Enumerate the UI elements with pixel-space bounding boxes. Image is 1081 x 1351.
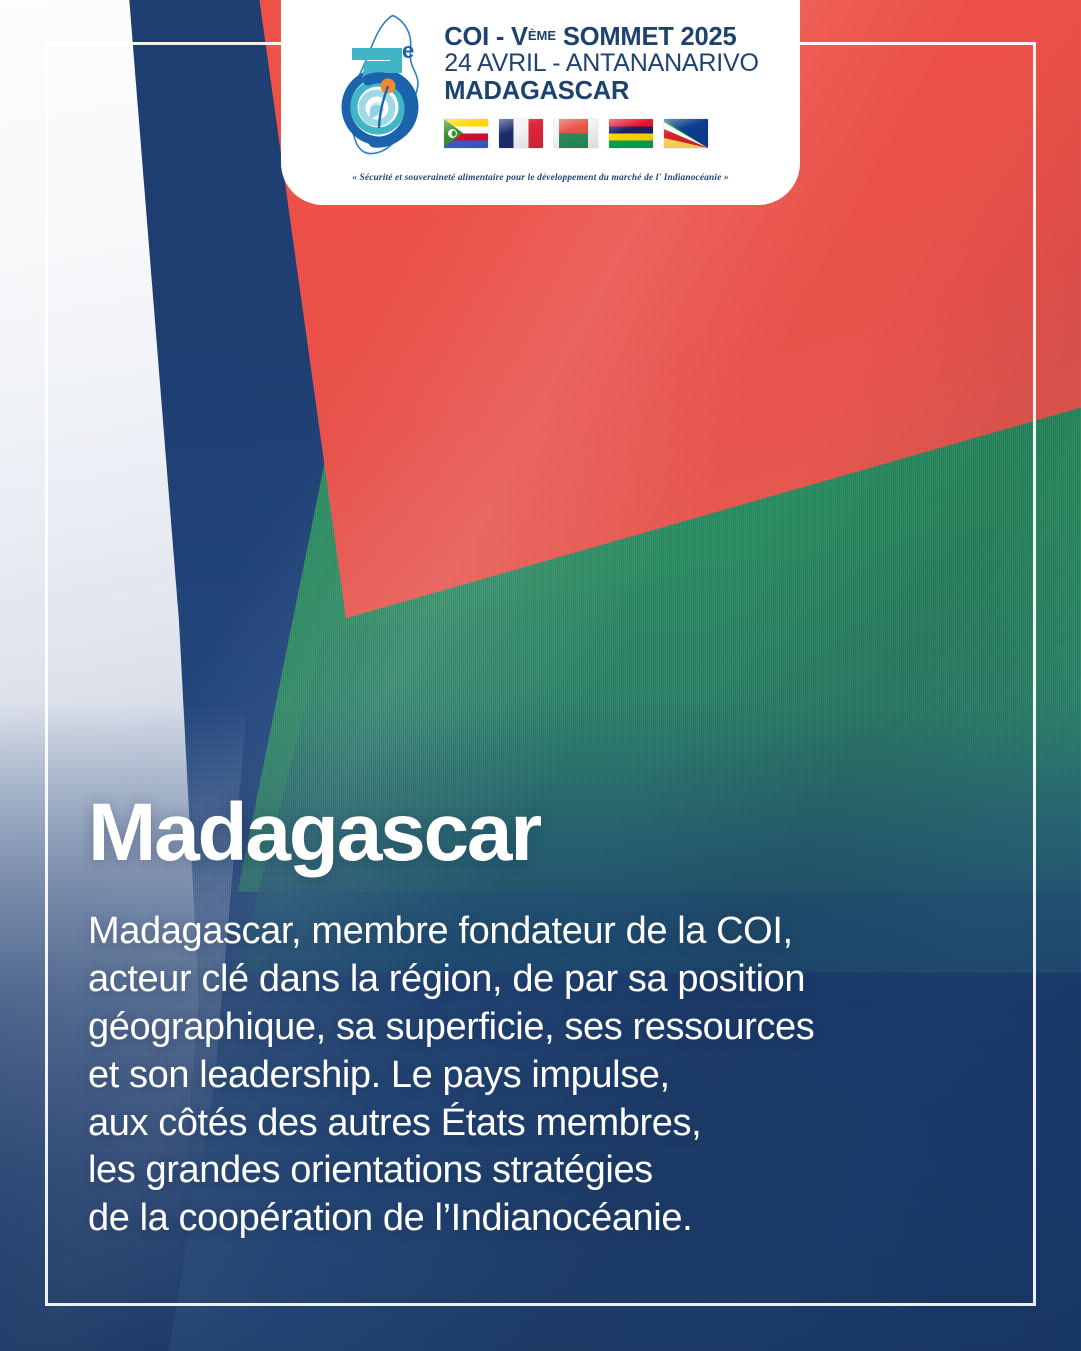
coi-summit-logo: e — [322, 10, 440, 160]
summit-title-ordinal: ÈME — [528, 28, 556, 43]
summit-title-line-1-tail: SOMMET 2025 — [556, 23, 736, 51]
flag-sheen — [499, 119, 543, 148]
summit-title-line-3: MADAGASCAR — [444, 78, 758, 104]
country-title: Madagascar — [88, 792, 540, 874]
description-line: Madagascar, membre fondateur de la COI, — [88, 908, 1021, 956]
flag-seychelles-icon — [664, 119, 708, 148]
flag-sheen — [554, 119, 598, 148]
flag-sheen — [444, 119, 488, 148]
logo-ordinal-e: e — [402, 38, 414, 63]
flag-comoros-icon — [444, 119, 488, 148]
flag-france-icon — [499, 119, 543, 148]
flag-sheen — [664, 119, 708, 148]
flag-madagascar-icon — [554, 119, 598, 148]
description-line: géographique, sa superficie, ses ressour… — [88, 1004, 1021, 1052]
description-line: et son leadership. Le pays impulse, — [88, 1052, 1021, 1100]
logo-svg: e — [322, 10, 440, 160]
summit-header-card: e COI - VÈME SOMMET 2025 24 AVRIL - ANTA… — [281, 0, 800, 205]
summit-tagline: « Sécurité et souveraineté alimentaire p… — [352, 173, 729, 183]
header-top-row: e COI - VÈME SOMMET 2025 24 AVRIL - ANTA… — [306, 8, 774, 160]
header-text-block: COI - VÈME SOMMET 2025 24 AVRIL - ANTANA… — [444, 8, 758, 148]
summit-title-lines: COI - VÈME SOMMET 2025 24 AVRIL - ANTANA… — [444, 24, 758, 104]
poster-canvas: e COI - VÈME SOMMET 2025 24 AVRIL - ANTA… — [0, 0, 1081, 1351]
description-line: de la coopération de l’Indianocéanie. — [88, 1195, 1021, 1243]
description-line: aux côtés des autres États membres, — [88, 1100, 1021, 1148]
country-description: Madagascar, membre fondateur de la COI, … — [88, 908, 1021, 1243]
summit-title-line-1: COI - VÈME SOMMET 2025 — [444, 24, 758, 50]
description-line: les grandes orientations stratégies — [88, 1147, 1021, 1195]
summit-title-line-1-main: COI - V — [444, 23, 528, 51]
member-state-flags — [444, 119, 758, 148]
summit-title-line-2: 24 AVRIL - ANTANANARIVO — [444, 51, 758, 77]
flag-sheen — [609, 119, 653, 148]
description-line: acteur clé dans la région, de par sa pos… — [88, 956, 1021, 1004]
flag-mauritius-icon — [609, 119, 653, 148]
